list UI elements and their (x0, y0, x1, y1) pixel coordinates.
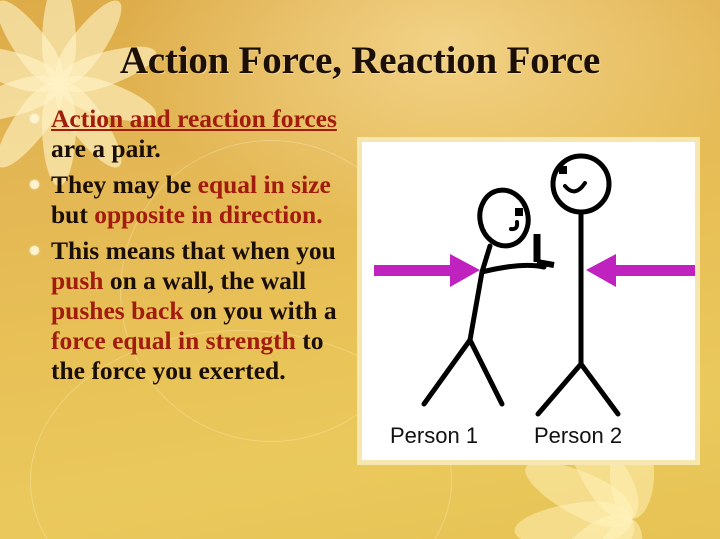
bullet-3-segment-3: on a wall, the wall (103, 266, 306, 295)
bullet-3-segment-2: push (51, 266, 103, 295)
bullet-1-segment-2: are a pair. (51, 134, 161, 163)
person-2-eye (559, 166, 567, 174)
person-1-leg-left (424, 340, 470, 404)
person-2-leg-right (581, 364, 618, 414)
person-1-torso (470, 246, 490, 340)
bullet-3-segment-1: This means that when you (51, 236, 336, 265)
bullet-2-segment-1: They may be (51, 170, 198, 199)
slide-canvas: Action Force, Reaction Force Action and … (0, 0, 720, 539)
list-item: They may be equal in size but opposite i… (18, 170, 348, 230)
bullet-3-segment-5: on you with a (184, 296, 337, 325)
person-2-head (553, 156, 609, 212)
list-item: This means that when you push on a wall,… (18, 236, 348, 386)
reaction-force-arrow (586, 254, 695, 287)
stick-figure-diagram (362, 142, 695, 460)
list-item: Action and reaction forces are a pair. (18, 104, 348, 164)
person-1-arm (482, 265, 544, 272)
label-person-1: Person 1 (390, 423, 478, 449)
page-title: Action Force, Reaction Force (0, 38, 720, 83)
action-force-arrow (374, 254, 480, 287)
person-1-head (475, 186, 534, 251)
illustration-panel: Person 1 Person 2 (357, 137, 700, 465)
label-person-2: Person 2 (534, 423, 622, 449)
bullet-3-segment-6: force equal in strength (51, 326, 296, 355)
bullet-1-segment-1: Action and reaction forces (51, 104, 337, 133)
bullet-2-segment-4: opposite in direction. (94, 200, 322, 229)
person-2-leg-left (538, 364, 581, 414)
bullet-3-segment-4: pushes back (51, 296, 184, 325)
bullet-text-2: They may be equal in size but opposite i… (51, 170, 348, 230)
contact-hand-base (537, 262, 554, 265)
bullet-text-1: Action and reaction forces are a pair. (51, 104, 348, 164)
person-1-leg-right (470, 340, 502, 404)
bullet-2-segment-3: but (51, 200, 94, 229)
bullet-dot-icon (30, 246, 39, 255)
person-1-eye (515, 208, 523, 216)
bullet-dot-icon (30, 180, 39, 189)
person-1-figure (424, 186, 544, 404)
bullet-list: Action and reaction forces are a pair. T… (18, 104, 348, 392)
person-2-figure (538, 156, 618, 414)
bullet-text-3: This means that when you push on a wall,… (51, 236, 348, 386)
bullet-2-segment-2: equal in size (198, 170, 331, 199)
bullet-dot-icon (30, 114, 39, 123)
